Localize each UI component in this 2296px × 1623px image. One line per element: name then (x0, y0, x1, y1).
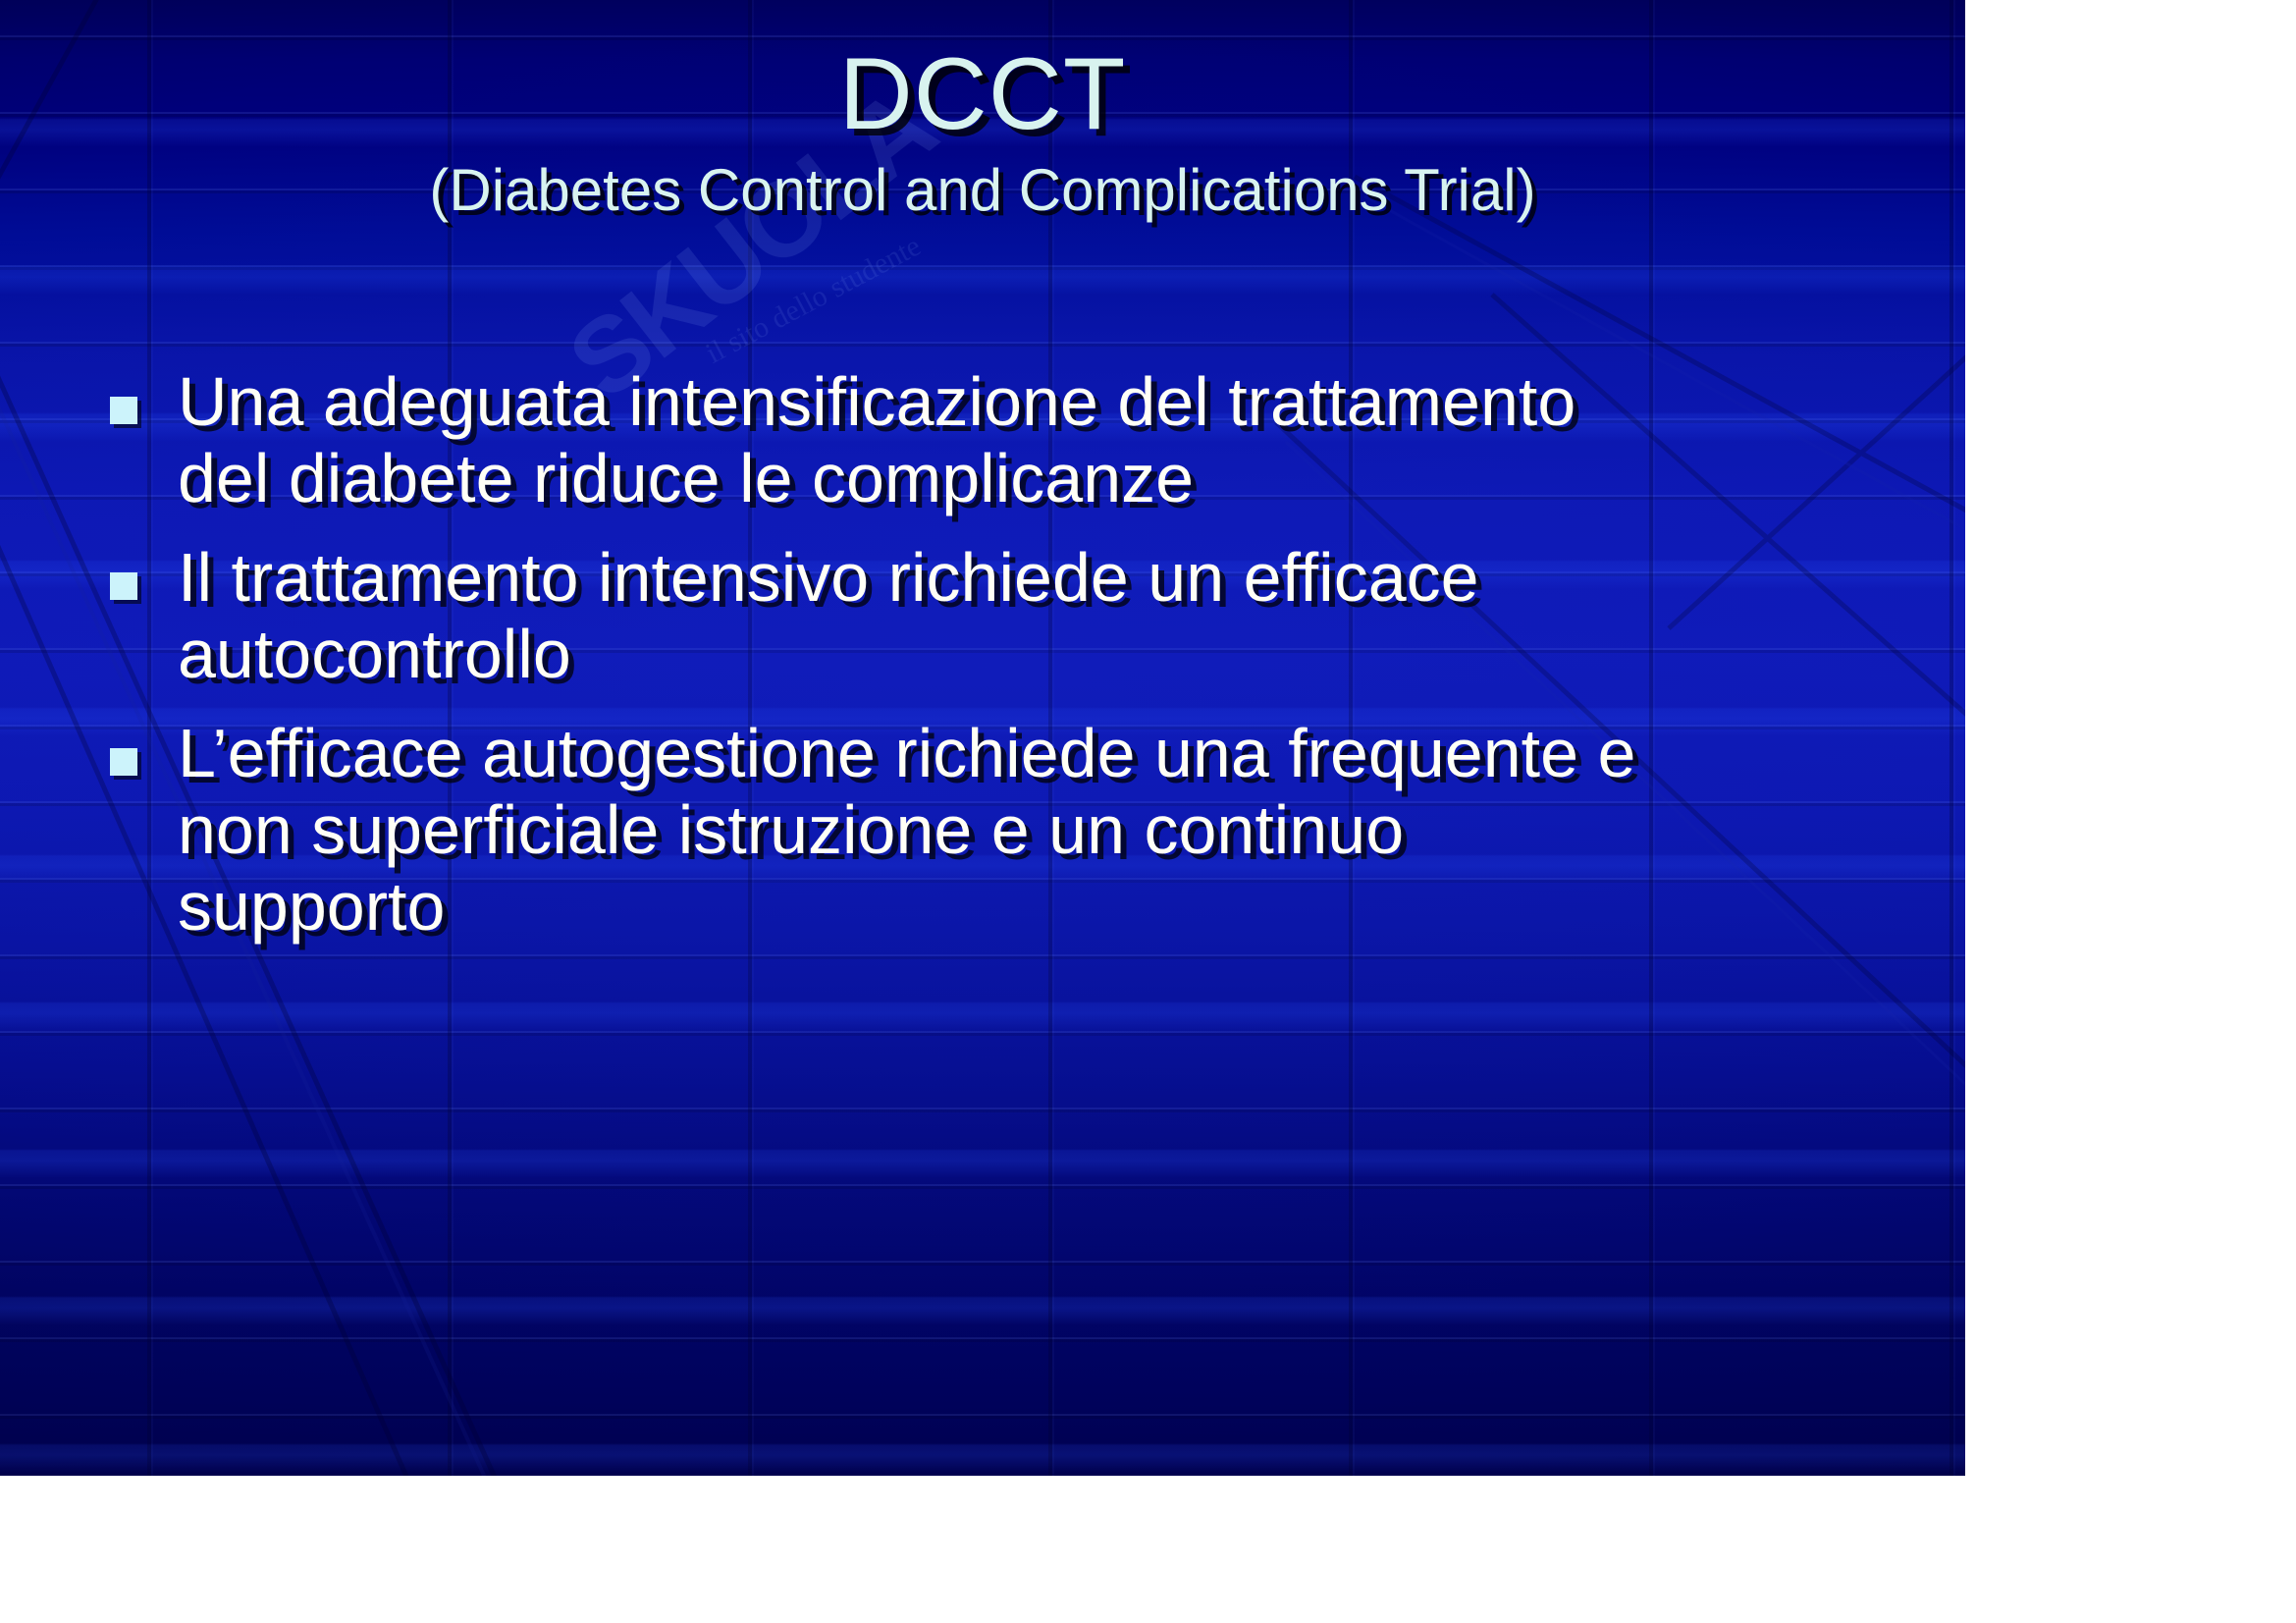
slide-title: DCCT (0, 43, 1965, 145)
bullet-item-text: Il trattamento intensivo richiede un eff… (178, 539, 1877, 693)
square-bullet-icon (110, 572, 137, 600)
bullet-item-text: L’efficace autogestione richiede una fre… (178, 715, 1650, 946)
slide-subtitle: (Diabetes Control and Complications Tria… (0, 159, 1965, 221)
bullet-item: Il trattamento intensivo richiede un eff… (110, 539, 1877, 693)
bullet-list: Una adeguata intensificazione del tratta… (110, 363, 1877, 967)
presentation-slide: SKUOLA il sito dello studente DCCT (Diab… (0, 0, 1965, 1476)
slide-title-block: DCCT (Diabetes Control and Complications… (0, 43, 1965, 221)
bullet-item: L’efficace autogestione richiede una fre… (110, 715, 1877, 946)
slide-content: DCCT (Diabetes Control and Complications… (0, 0, 1965, 1476)
square-bullet-icon (110, 397, 137, 424)
bullet-item: Una adeguata intensificazione del tratta… (110, 363, 1877, 517)
bullet-item-text: Una adeguata intensificazione del tratta… (178, 363, 1650, 517)
square-bullet-icon (110, 748, 137, 776)
